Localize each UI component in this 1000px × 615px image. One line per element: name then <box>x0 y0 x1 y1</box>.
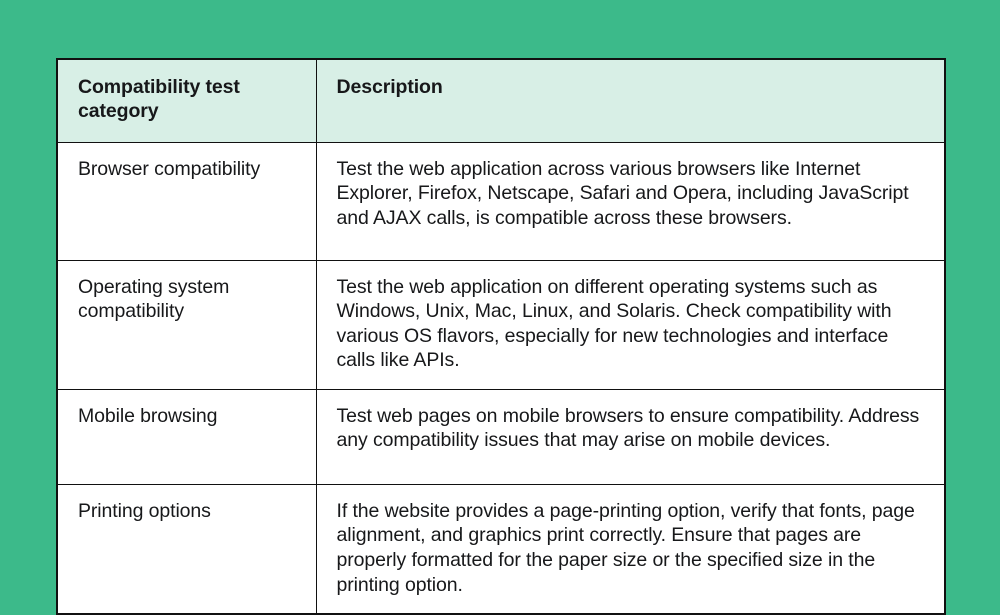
table-container: Compatibility test category Description … <box>56 58 944 554</box>
table-body: Browser compatibility Test the web appli… <box>57 142 945 614</box>
table-row: Printing options If the website provides… <box>57 484 945 614</box>
table-row: Browser compatibility Test the web appli… <box>57 142 945 260</box>
cell-category-mobile-browsing: Mobile browsing <box>57 389 316 484</box>
table-header: Compatibility test category Description <box>57 59 945 142</box>
table-row: Mobile browsing Test web pages on mobile… <box>57 389 945 484</box>
cell-description-printing-options: If the website provides a page-printing … <box>316 484 945 614</box>
cell-category-browser-compatibility: Browser compatibility <box>57 142 316 260</box>
column-header-description: Description <box>316 59 945 142</box>
table-header-row: Compatibility test category Description <box>57 59 945 142</box>
cell-category-operating-system-compatibility: Operating system compatibility <box>57 260 316 389</box>
compatibility-test-table: Compatibility test category Description … <box>56 58 946 615</box>
cell-description-browser-compatibility: Test the web application across various … <box>316 142 945 260</box>
page-root: Compatibility test category Description … <box>0 0 1000 613</box>
column-header-category: Compatibility test category <box>57 59 316 142</box>
cell-description-operating-system-compatibility: Test the web application on different op… <box>316 260 945 389</box>
table-row: Operating system compatibility Test the … <box>57 260 945 389</box>
cell-category-printing-options: Printing options <box>57 484 316 614</box>
cell-description-mobile-browsing: Test web pages on mobile browsers to ens… <box>316 389 945 484</box>
